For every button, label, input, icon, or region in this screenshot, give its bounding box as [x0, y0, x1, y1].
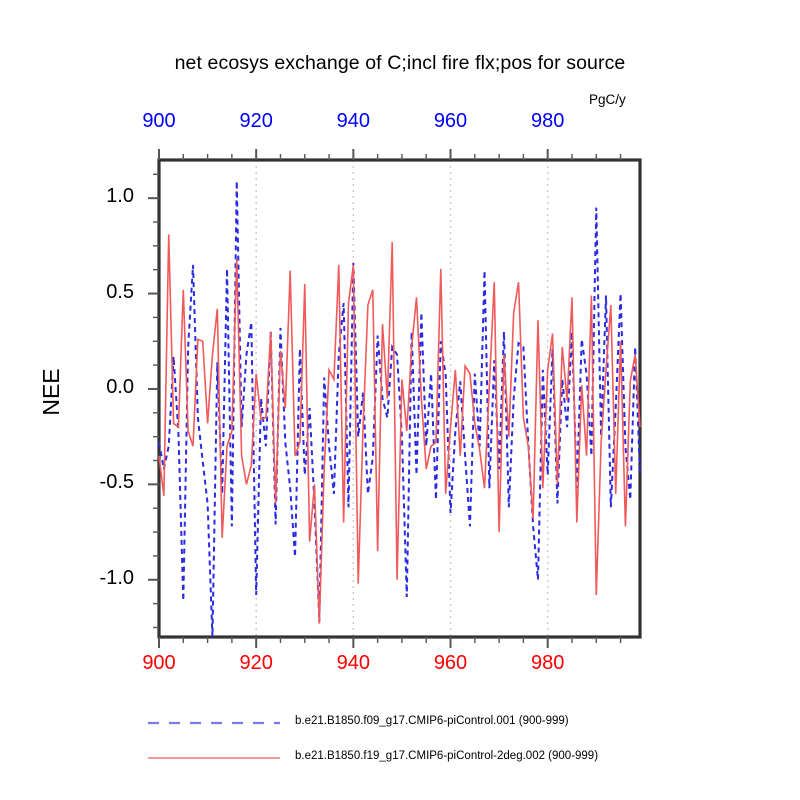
data-series — [159, 181, 640, 637]
chart-canvas — [0, 0, 800, 800]
chart-page: net ecosys exchange of C;incl fire flx;p… — [0, 0, 800, 800]
series-line-1 — [159, 234, 640, 623]
series-line-0 — [159, 181, 640, 637]
legend-label-0: b.e21.B1850.f09_g17.CMIP6-piControl.001 … — [295, 715, 569, 727]
legend-lines — [148, 723, 280, 758]
legend-label-1: b.e21.B1850.f19_g17.CMIP6-piControl-2deg… — [295, 750, 598, 762]
